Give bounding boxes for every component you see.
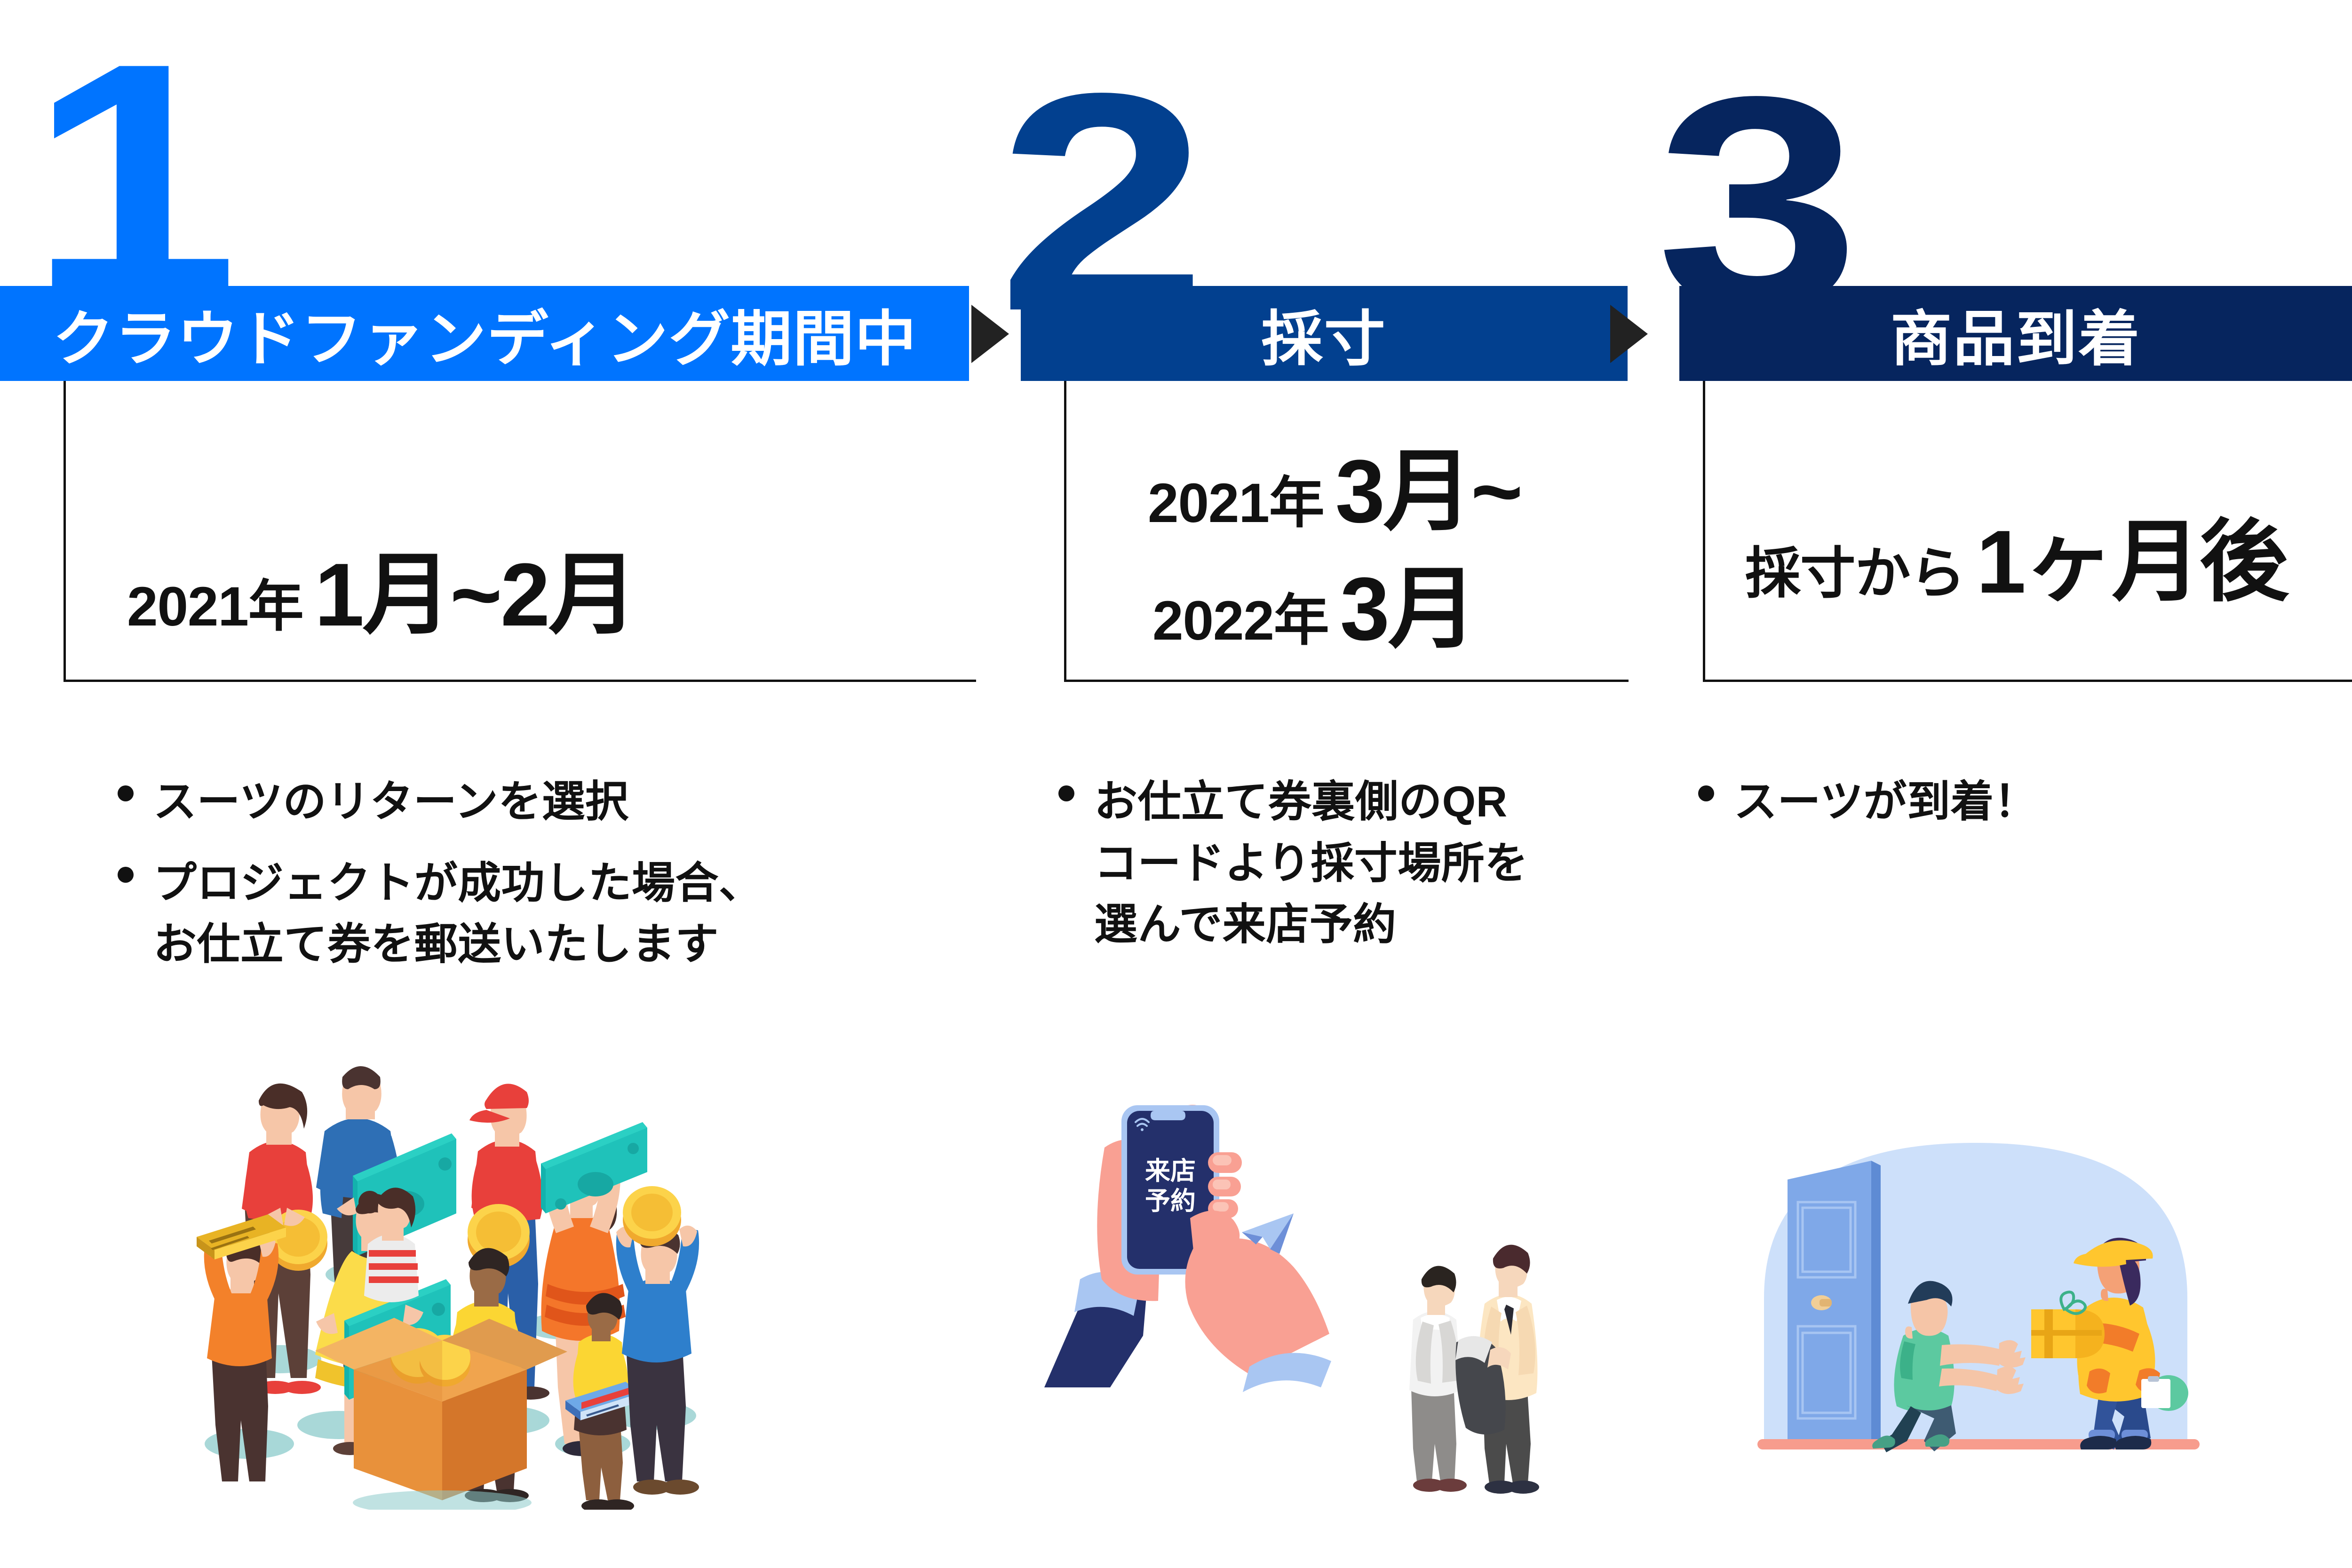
bullet-list-step3: スーツが到着！ bbox=[1698, 771, 2310, 853]
infographic-canvas: 1 2 3 クラウドファンディング期間中 採寸 商品到着 2021年 1月~2月… bbox=[0, 0, 2352, 1568]
bullet-list-step1: スーツのリターンを選択 プロジェクトが成功した場合、 お仕立て券を郵送いたします bbox=[118, 771, 941, 995]
smartphone-booking-illustration: 来店 予約 bbox=[1035, 1058, 1590, 1510]
step-header-bar-3: 商品到着 bbox=[1679, 286, 2352, 381]
step-header-bar-2: 採寸 bbox=[1021, 286, 1628, 381]
step-header-label-1: クラウドファンディング期間中 bbox=[53, 290, 917, 377]
arrow-right-icon bbox=[1610, 305, 1648, 363]
date-year: 2021年 bbox=[1148, 458, 1324, 538]
list-item: スーツが到着！ bbox=[1698, 771, 2310, 833]
step-header-bar-1: クラウドファンディング期間中 bbox=[0, 286, 969, 381]
bullet-dot-icon bbox=[118, 785, 134, 801]
bullet-text: スーツのリターンを選択 bbox=[153, 771, 629, 833]
date-year: 2022年 bbox=[1152, 575, 1329, 656]
bullet-dot-icon bbox=[1698, 785, 1714, 801]
date-month: 1月~2月 bbox=[315, 522, 636, 651]
bullet-text: お仕立て券裏側のQR コードより採寸場所を 選んで来店予約 bbox=[1094, 771, 1528, 956]
date-month: 3月~ bbox=[1335, 419, 1521, 548]
date-year: 2021年 bbox=[127, 561, 303, 641]
date-row-step2-end: 2022年 3月 bbox=[1152, 536, 1476, 665]
svg-text:予約: 予約 bbox=[1145, 1187, 1196, 1215]
date-row-step1: 2021年 1月~2月 bbox=[127, 522, 636, 651]
bullet-dot-icon bbox=[1058, 785, 1074, 801]
date-year: 採寸から bbox=[1745, 528, 1965, 609]
date-month: 1ヶ月後 bbox=[1976, 489, 2287, 618]
delivery-at-door-illustration bbox=[1736, 1101, 2220, 1486]
date-row-step3: 採寸から 1ヶ月後 bbox=[1745, 489, 2287, 618]
list-item: プロジェクトが成功した場合、 お仕立て券を郵送いたします bbox=[118, 853, 941, 975]
arrow-right-icon bbox=[971, 305, 1009, 363]
svg-text:来店: 来店 bbox=[1145, 1157, 1196, 1185]
step-header-label-2: 採寸 bbox=[1262, 290, 1387, 377]
date-row-step2-start: 2021年 3月~ bbox=[1148, 419, 1521, 548]
list-item: スーツのリターンを選択 bbox=[118, 771, 941, 833]
crowdfunding-people-illustration bbox=[179, 1030, 706, 1510]
step-header-label-3: 商品到着 bbox=[1891, 290, 2141, 377]
bullet-dot-icon bbox=[118, 867, 134, 883]
date-month: 3月 bbox=[1340, 536, 1476, 665]
bullet-list-step2: お仕立て券裏側のQR コードより採寸場所を 選んで来店予約 bbox=[1058, 771, 1613, 975]
bullet-text: プロジェクトが成功した場合、 お仕立て券を郵送いたします bbox=[153, 853, 762, 975]
list-item: お仕立て券裏側のQR コードより採寸場所を 選んで来店予約 bbox=[1058, 771, 1613, 956]
bullet-text: スーツが到着！ bbox=[1734, 771, 2037, 833]
